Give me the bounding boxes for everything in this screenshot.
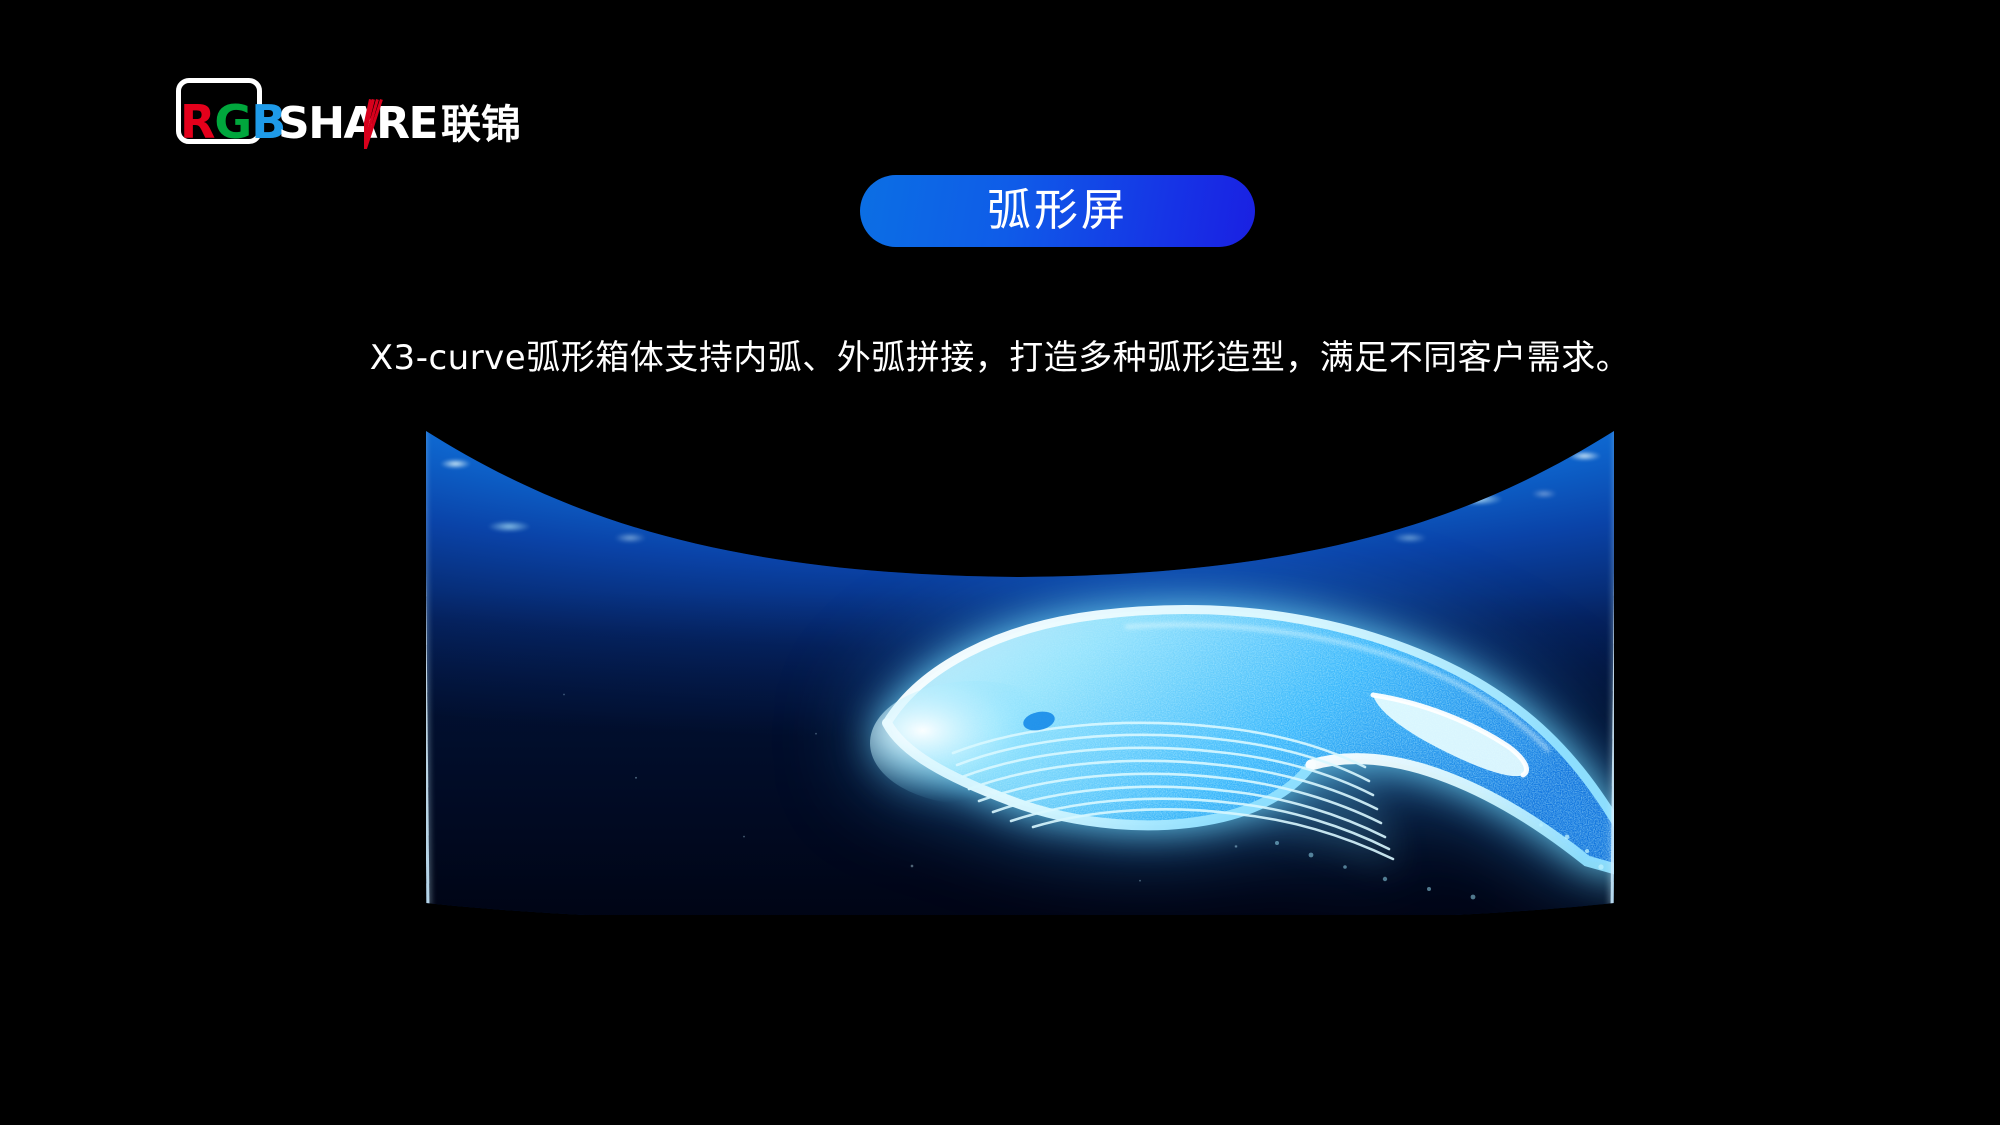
- rgbshare-lianjin-logo[interactable]: RGB SHARE 联锦: [176, 78, 521, 148]
- section-title-label: 弧形屏: [987, 189, 1128, 233]
- logo-rgb-letters: RGB: [180, 99, 285, 145]
- section-description: X3-curve弧形箱体支持内弧、外弧拼接，打造多种弧形造型，满足不同客户需求。: [0, 335, 2000, 381]
- logo-wordmark: SHARE: [278, 102, 437, 146]
- logo-mark: RGB: [176, 78, 276, 148]
- section-title-pill[interactable]: 弧形屏: [860, 175, 1255, 247]
- logo-chinese-name: 联锦: [441, 104, 521, 146]
- logo-wordmark-text: SHARE: [278, 98, 437, 149]
- logo-letter-g: G: [214, 95, 251, 149]
- slide-root: RGB SHARE 联锦 弧形屏 X3-curve弧形箱体支持内弧、外弧拼接，打…: [0, 0, 2000, 1125]
- curved-led-screen: [420, 425, 1620, 915]
- particle-whale-graphic: [825, 575, 1620, 915]
- screen-display-surface: [420, 425, 1620, 915]
- logo-letter-r: R: [180, 95, 214, 149]
